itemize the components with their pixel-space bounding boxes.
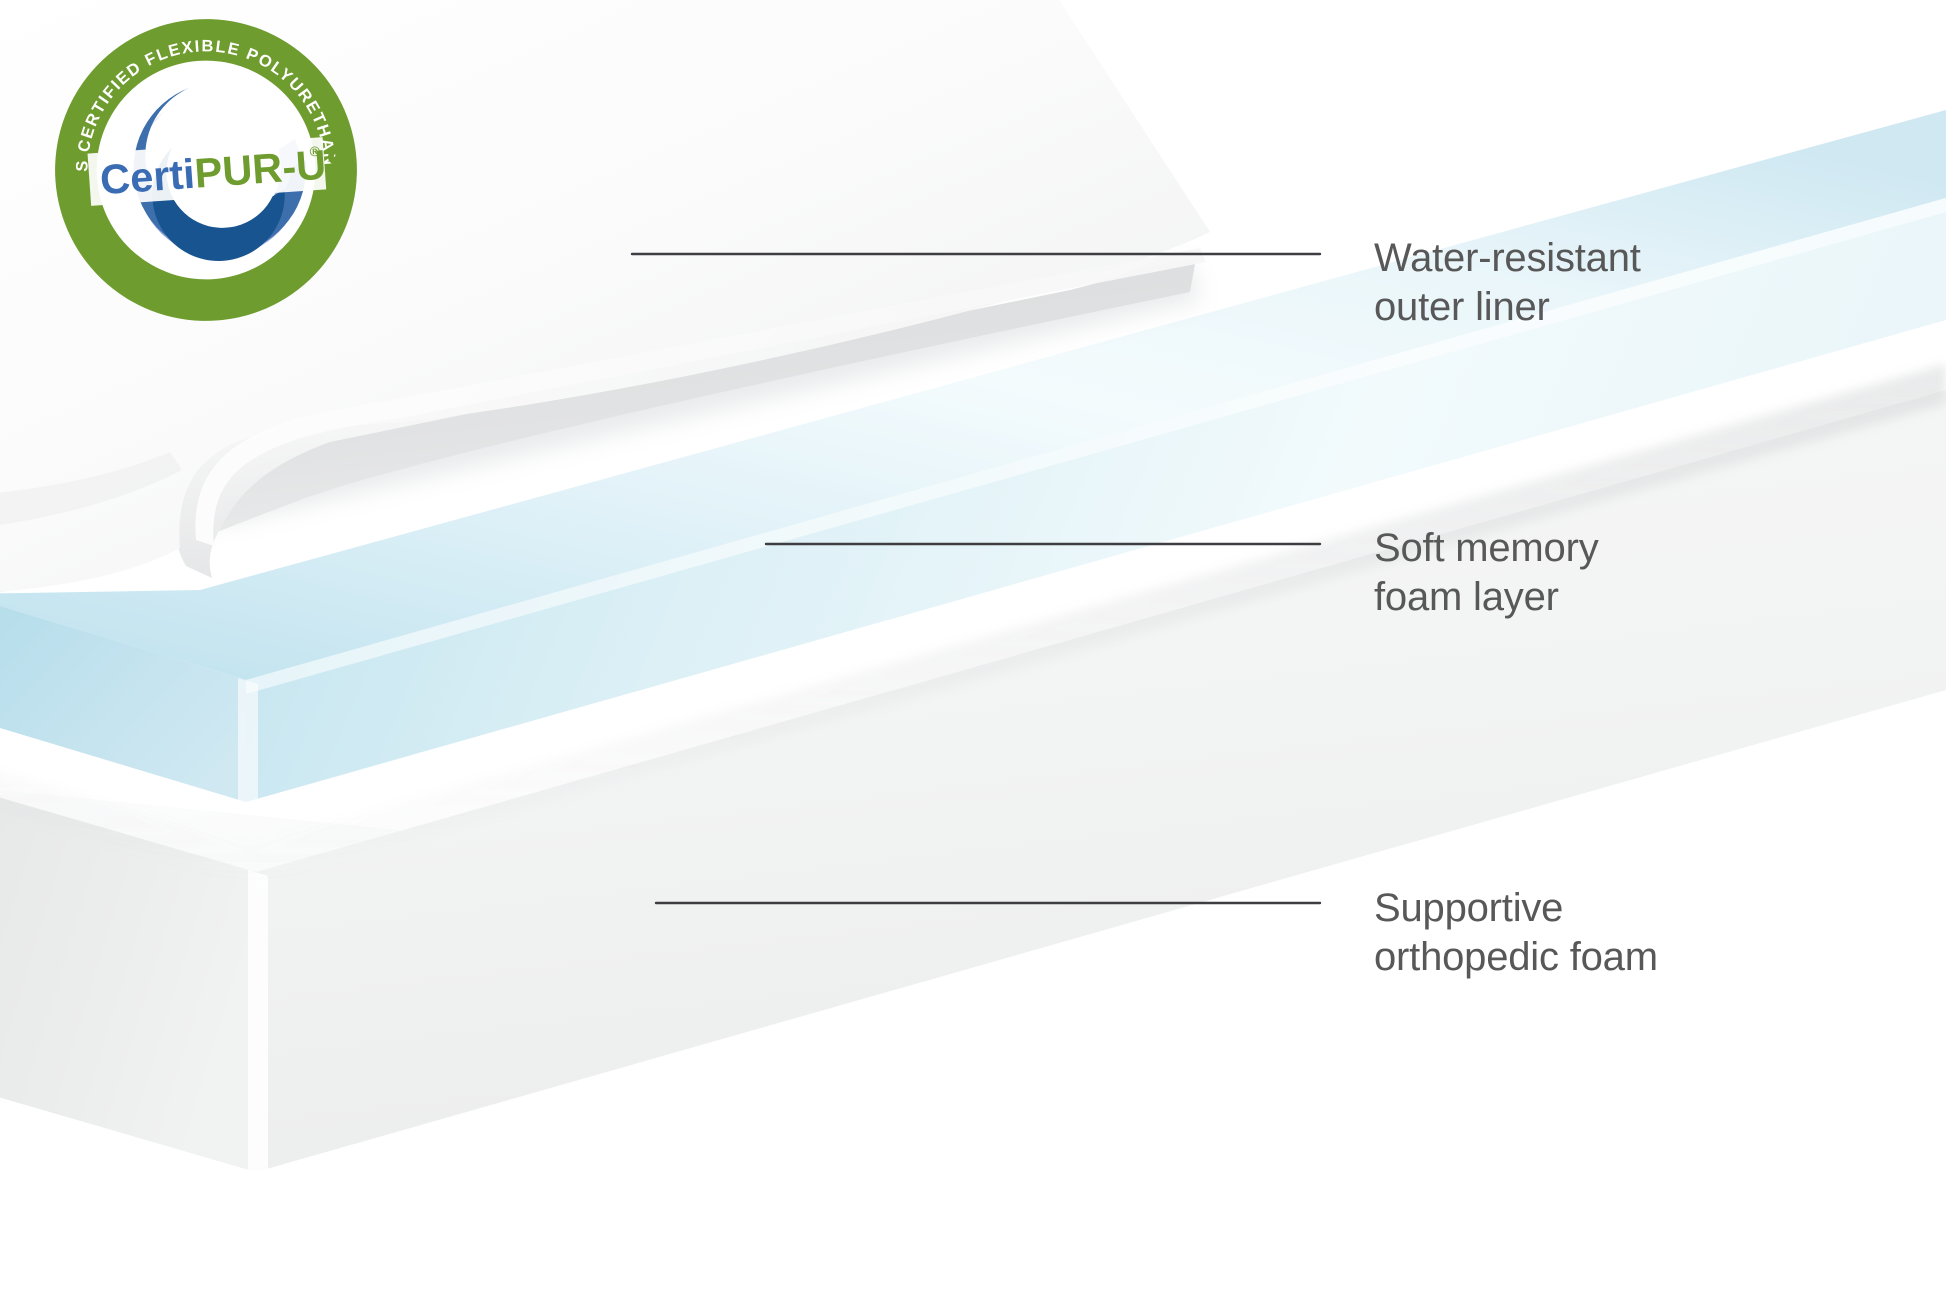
memory-foam-corner-highlight	[238, 678, 258, 806]
badge-registered-mark: ®	[309, 143, 320, 160]
callout-label-orthopedic-foam: Supportive orthopedic foam	[1374, 884, 1658, 982]
certipur-us-certification-badge: CONTAINS CERTIFIED FLEXIBLE POLYURETHANE…	[42, 6, 371, 335]
callout-label-memory-foam: Soft memory foam layer	[1374, 524, 1599, 622]
base-foam-corner-highlight	[248, 870, 268, 1176]
callout-label-outer-liner: Water-resistant outer liner	[1374, 234, 1641, 332]
mattress-layers-infographic: CONTAINS CERTIFIED FLEXIBLE POLYURETHANE…	[0, 0, 1946, 1298]
